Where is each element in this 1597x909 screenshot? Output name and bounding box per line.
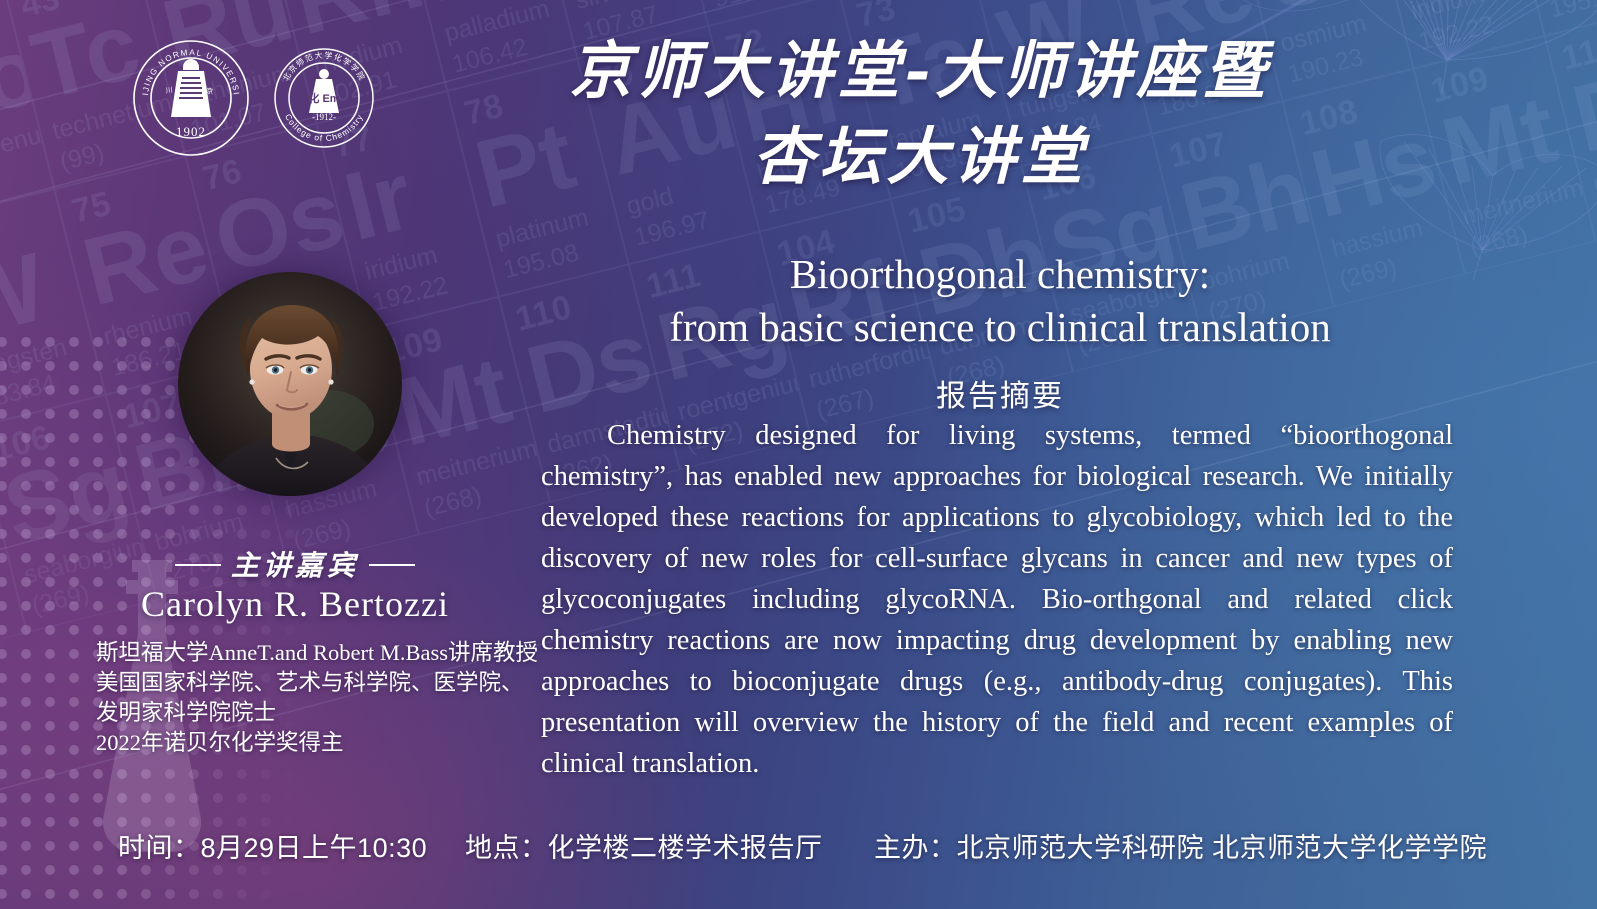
speaker-bio-line-4: 2022年诺贝尔化学奖得主 bbox=[96, 728, 526, 758]
talk-title-line-1: Bioorthogonal chemistry: bbox=[790, 251, 1210, 297]
footer-host: 主办：北京师范大学科研院 北京师范大学化学学院 bbox=[874, 826, 1487, 865]
talk-title: Bioorthogonal chemistry: from basic scie… bbox=[520, 248, 1480, 355]
speaker-bio: 斯坦福大学AnneT.and Robert M.Bass讲席教授美国国家科学院、… bbox=[96, 638, 526, 758]
beijing-normal-university-logo: 川 京 BEIJING NORMAL UNIVERSITY 1902 bbox=[130, 37, 252, 159]
svg-text:1902: 1902 bbox=[176, 124, 206, 139]
poster-headline: 京师大讲堂-大师讲座暨 杏坛大讲堂 bbox=[430, 28, 1410, 199]
speaker-label-text: 主讲嘉宾 bbox=[231, 549, 359, 582]
svg-text:川: 川 bbox=[165, 86, 173, 95]
speaker-portrait bbox=[178, 272, 402, 496]
footer-place: 地点：化学楼二楼学术报告厅 bbox=[465, 826, 823, 865]
headline-line-2: 杏坛大讲堂 bbox=[430, 114, 1410, 200]
headline-line-1: 京师大讲堂-大师讲座暨 bbox=[570, 34, 1271, 107]
logo-group: 川 京 BEIJING NORMAL UNIVERSITY 1902 化 Em … bbox=[130, 37, 376, 159]
abstract-heading: 报告摘要 bbox=[520, 371, 1480, 415]
talk-title-line-2: from basic science to clinical translati… bbox=[520, 301, 1480, 354]
speaker-bio-line-1: 斯坦福大学AnneT.and Robert M.Bass讲席教授 bbox=[96, 638, 526, 668]
speaker-name: Carolyn R. Bertozzi bbox=[60, 583, 530, 625]
svg-text:京: 京 bbox=[206, 86, 214, 96]
lecture-poster: 40Zrzirconium91.2241Nbniobium92.9142Momo… bbox=[0, 0, 1597, 909]
footer-time: 时间：8月29日上午10:30 bbox=[118, 826, 427, 865]
speaker-bio-line-3: 发明家科学院院士 bbox=[96, 698, 526, 728]
svg-text:化 Em: 化 Em bbox=[308, 91, 339, 105]
svg-text:-1912-: -1912- bbox=[312, 112, 336, 122]
college-of-chemistry-logo: 化 Em -1912- 北京师范大学化学学院 College of Chemis… bbox=[272, 46, 376, 150]
label-dash-left bbox=[175, 564, 221, 566]
abstract-body: Chemistry designed for living systems, t… bbox=[541, 415, 1453, 784]
speaker-bio-line-2: 美国国家科学院、艺术与科学院、医学院、 bbox=[96, 668, 526, 698]
speaker-label: 主讲嘉宾 bbox=[60, 544, 530, 584]
speaker-portrait-image bbox=[178, 272, 402, 496]
label-dash-right bbox=[369, 564, 415, 566]
